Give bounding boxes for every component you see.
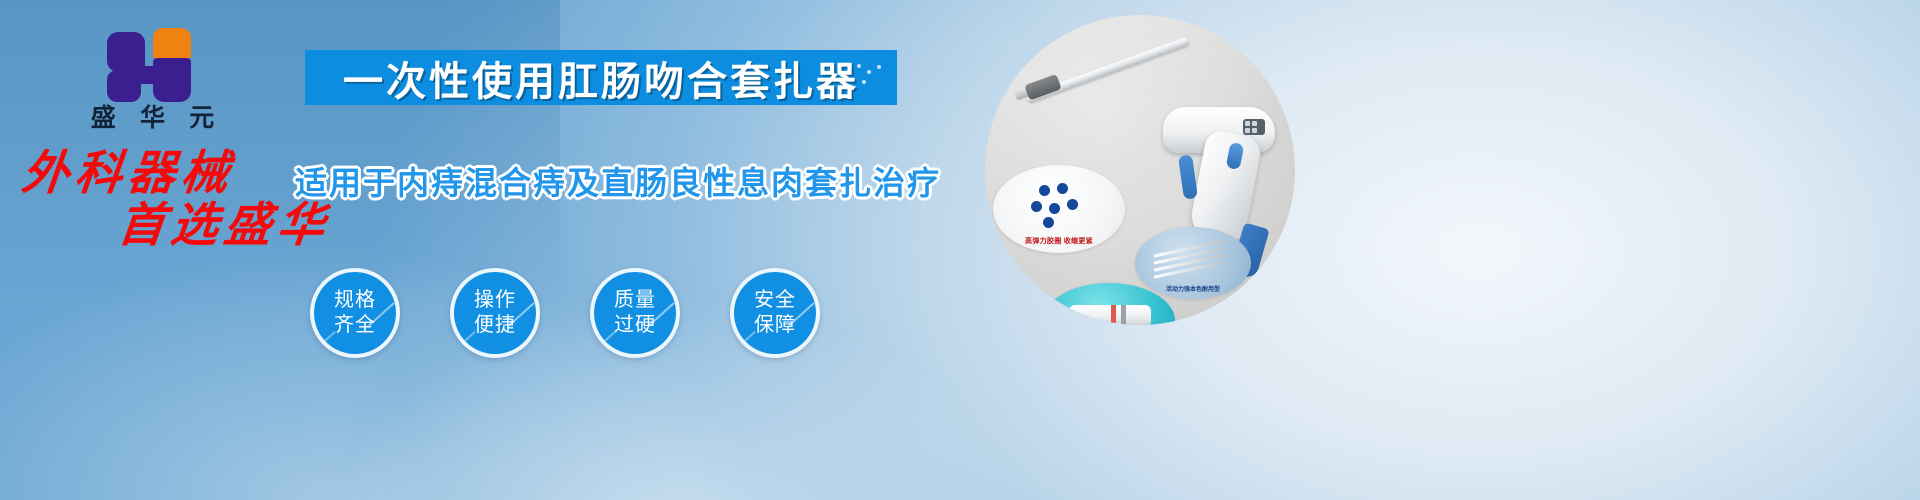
feature-badge-list: 规格 齐全 操作 便捷 质量 过硬 安全 保障 xyxy=(310,268,840,358)
device-panel-icon xyxy=(1243,119,1265,135)
feature-badge-3-line1: 质量 xyxy=(614,288,656,313)
feature-badge-4[interactable]: 安全 保障 xyxy=(730,268,820,358)
feature-badge-2[interactable]: 操作 便捷 xyxy=(450,268,540,358)
feature-badge-2-line2: 便捷 xyxy=(474,313,516,338)
brand-name: 盛 华 元 xyxy=(60,106,245,131)
feature-badge-1-line2: 齐全 xyxy=(334,313,376,338)
feature-badge-1[interactable]: 规格 齐全 xyxy=(310,268,400,358)
feature-badge-4-line2: 保障 xyxy=(754,313,796,338)
feature-badge-3[interactable]: 质量 过硬 xyxy=(590,268,680,358)
inset-photo-rings: 高弹力胶圈 收缩更紧 xyxy=(993,165,1125,253)
device-trigger xyxy=(1178,154,1198,200)
inset-rings-caption: 高弹力胶圈 收缩更紧 xyxy=(993,236,1125,246)
page-title: 一次性使用肛肠吻合套扎器 xyxy=(305,49,897,107)
feature-badge-1-line1: 规格 xyxy=(334,288,376,313)
calligraphy-line-2: 首选盛华 xyxy=(115,202,354,252)
inset-photo-needles: 活动力强本色耐用型 xyxy=(1135,227,1251,299)
shenghuayuan-logo-icon xyxy=(107,28,199,100)
product-photo: 高弹力胶圈 收缩更紧 活动力强本色耐用型 xyxy=(985,15,1295,325)
brand-logo[interactable]: 盛 华 元 xyxy=(60,28,245,131)
device-barrel xyxy=(1025,36,1190,103)
feature-badge-2-line1: 操作 xyxy=(474,288,516,313)
product-subtitle: 适用于内痔混合痔及直肠良性息肉套扎治疗 xyxy=(295,158,905,204)
feature-badge-4-line1: 安全 xyxy=(754,288,796,313)
product-title-band: 一次性使用肛肠吻合套扎器 xyxy=(305,50,897,105)
feature-badge-3-line2: 过硬 xyxy=(614,313,656,338)
